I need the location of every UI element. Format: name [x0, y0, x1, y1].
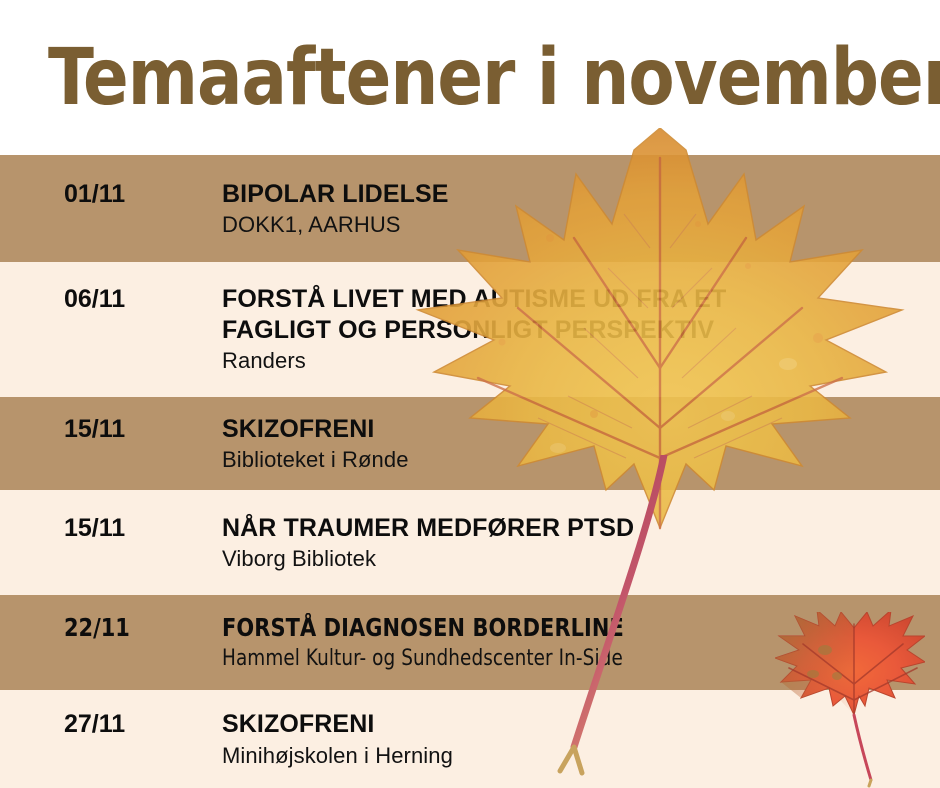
event-title: BIPOLAR LIDELSE	[222, 179, 940, 210]
event-date: 15/11	[64, 513, 222, 541]
event-title: SKIZOFRENI	[222, 709, 940, 740]
event-date: 27/11	[64, 709, 222, 737]
event-row[interactable]: 27/11 SKIZOFRENI Minihøjskolen i Herning	[0, 690, 940, 788]
poster-header: Temaaftener i november	[0, 0, 940, 155]
event-title: NÅR TRAUMER MEDFØRER PTSD	[222, 513, 940, 544]
event-venue: Hammel Kultur- og Sundhedscenter In-Side	[222, 645, 890, 673]
event-row[interactable]: 15/11 SKIZOFRENI Biblioteket i Rønde	[0, 397, 940, 490]
event-venue: DOKK1, AARHUS	[222, 211, 940, 239]
event-row[interactable]: 06/11 FORSTÅ LIVET MED AUTISME UD FRA ET…	[0, 262, 940, 397]
event-date: 01/11	[64, 179, 222, 207]
event-row[interactable]: 01/11 BIPOLAR LIDELSE DOKK1, AARHUS	[0, 155, 940, 262]
event-venue: Randers	[222, 347, 940, 375]
event-poster: Temaaftener i november 01/11 BIPOLAR LID…	[0, 0, 940, 788]
event-row[interactable]: 22/11 FORSTÅ DIAGNOSEN BORDERLINE Hammel…	[0, 595, 940, 690]
event-title: SKIZOFRENI	[222, 414, 940, 445]
event-title: FORSTÅ DIAGNOSEN BORDERLINE	[222, 613, 890, 644]
event-date: 22/11	[64, 613, 211, 641]
event-date: 06/11	[64, 284, 222, 312]
event-venue: Biblioteket i Rønde	[222, 446, 940, 474]
event-venue: Viborg Bibliotek	[222, 545, 940, 573]
event-title: FORSTÅ LIVET MED AUTISME UD FRA ET FAGLI…	[222, 284, 940, 345]
page-title: Temaaftener i november	[48, 39, 940, 117]
event-venue: Minihøjskolen i Herning	[222, 742, 940, 770]
event-row[interactable]: 15/11 NÅR TRAUMER MEDFØRER PTSD Viborg B…	[0, 490, 940, 595]
event-date: 15/11	[64, 414, 222, 442]
